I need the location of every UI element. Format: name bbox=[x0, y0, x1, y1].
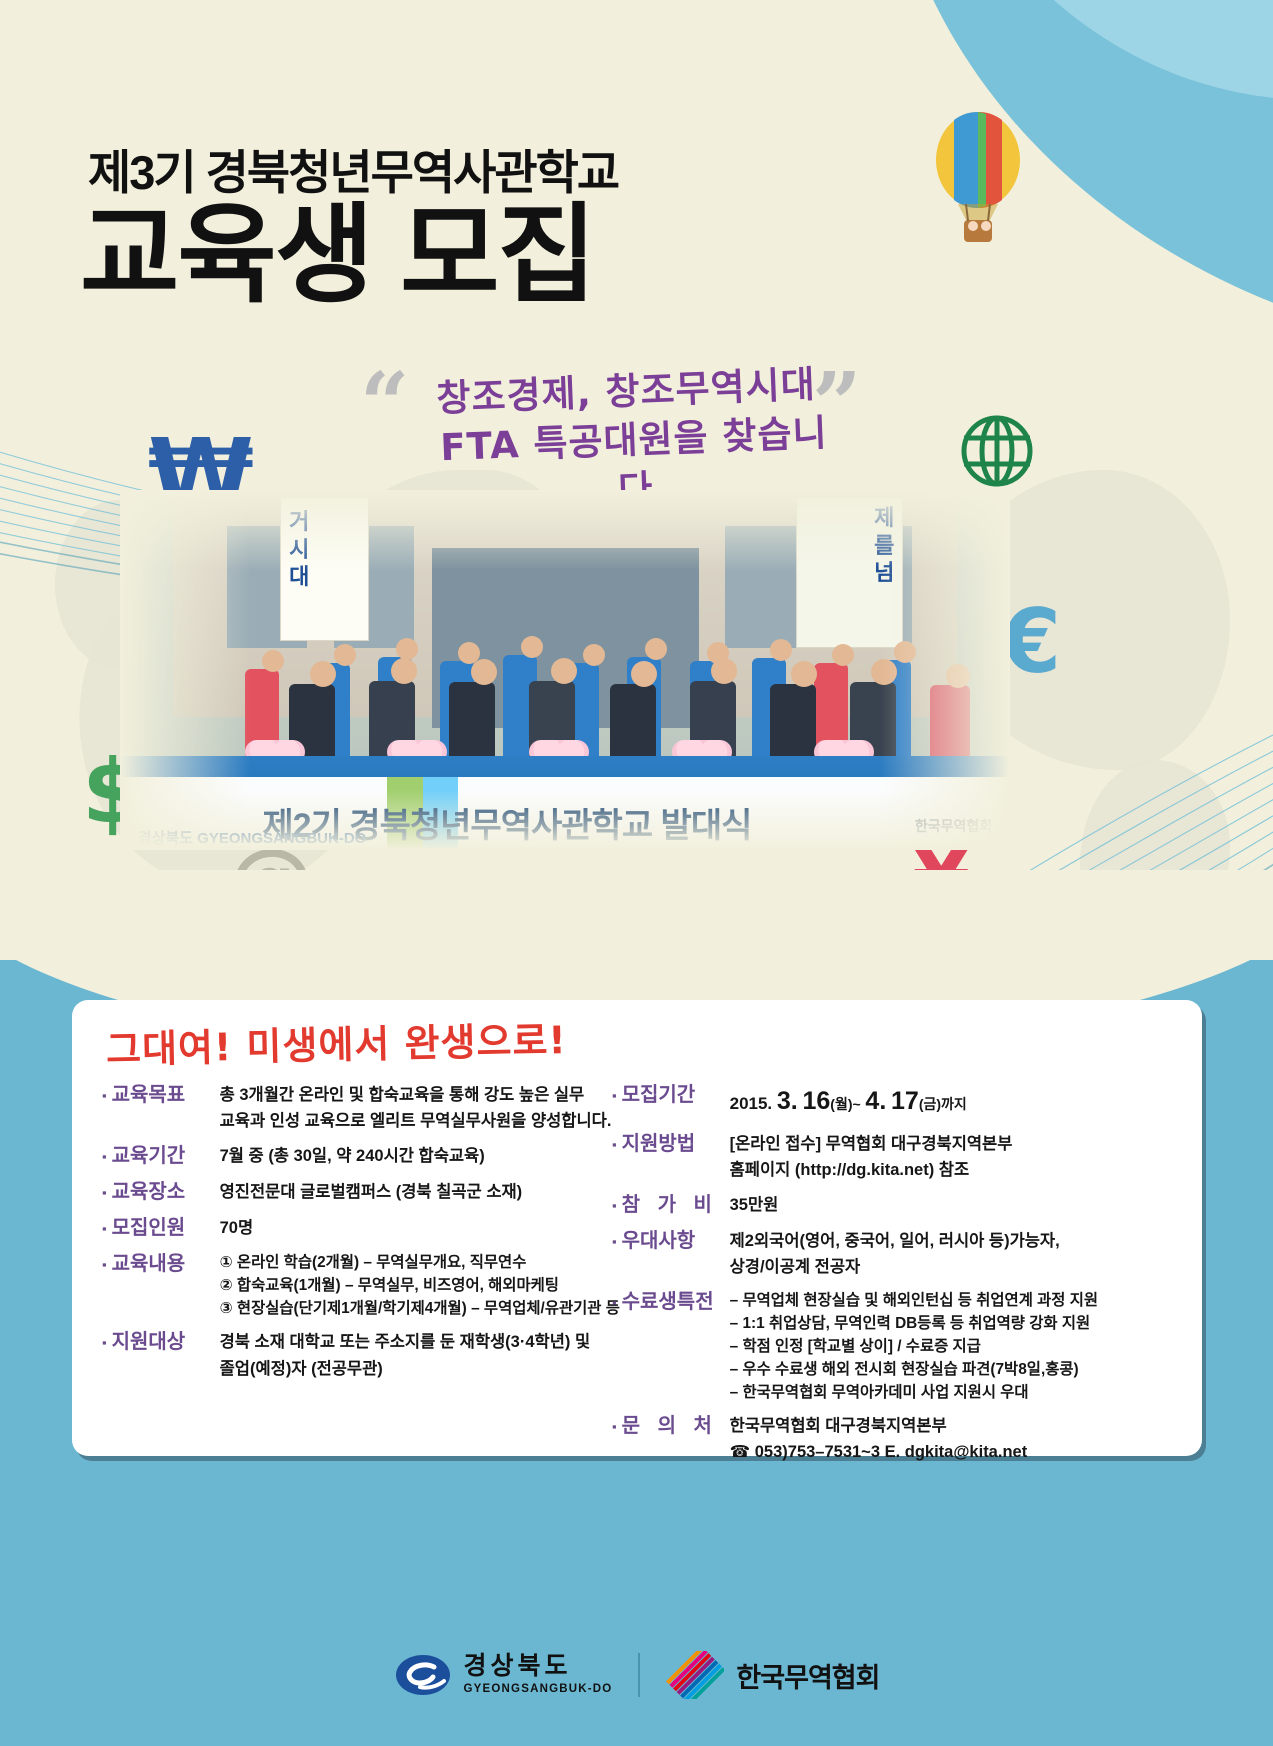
detail-label: 교육기간 bbox=[112, 1143, 220, 1170]
kita-logo: 한국무역협회 bbox=[666, 1651, 879, 1699]
detail-label: 교육장소 bbox=[112, 1179, 220, 1206]
kita-mark-icon bbox=[666, 1651, 724, 1699]
poster-root: 제3기 경북청년무역사관학교 교육생 모집 “ ” 창조경제, 창조무역시대 F… bbox=[0, 0, 1273, 1746]
date-weekday-start: (월)~ bbox=[830, 1096, 860, 1112]
detail-line: 70명 bbox=[220, 1215, 622, 1241]
gyeongsangbuk-do-logo: 경상북도 GYEONGSANGBUK-DO bbox=[394, 1653, 613, 1697]
date-month-end: 4. bbox=[865, 1087, 886, 1115]
bullet-icon: ▪ bbox=[612, 1291, 617, 1315]
detail-label: 지원대상 bbox=[112, 1329, 220, 1356]
bullet-icon: ▪ bbox=[612, 1230, 617, 1254]
bullet-icon: ▪ bbox=[102, 1331, 107, 1355]
detail-row-curriculum: ▪ 교육내용 ① 온라인 학습(2개월) – 무역실무개요, 직무연수 ② 합숙… bbox=[102, 1251, 622, 1320]
detail-value: ① 온라인 학습(2개월) – 무역실무개요, 직무연수 ② 합숙교육(1개월)… bbox=[220, 1251, 622, 1320]
detail-value: [온라인 접수] 무역협회 대구경북지역본부 홈페이지 (http://dg.k… bbox=[730, 1131, 1192, 1183]
contact-phone-email[interactable]: ☎ 053)753–7531~3 E. dgkita@kita.net bbox=[730, 1439, 1192, 1465]
detail-line: 제2외국어(영어, 중국어, 일어, 러시아 등)가능자, bbox=[730, 1228, 1192, 1254]
bullet-icon: ▪ bbox=[612, 1133, 617, 1157]
photo-crowd bbox=[120, 605, 1010, 756]
detail-row-quota: ▪ 모집인원 70명 bbox=[102, 1215, 622, 1242]
detail-value: 경북 소재 대학교 또는 주소지를 둔 재학생(3·4학년) 및 졸업(예정)자… bbox=[220, 1329, 622, 1381]
bullet-icon: ▪ bbox=[612, 1084, 617, 1108]
detail-line: 35만원 bbox=[730, 1192, 1192, 1218]
detail-row-preference: ▪ 우대사항 제2외국어(영어, 중국어, 일어, 러시아 등)가능자, 상경/… bbox=[612, 1228, 1192, 1280]
detail-label: 참 가 비 bbox=[622, 1192, 730, 1219]
detail-line: 졸업(예정)자 (전공무관) bbox=[220, 1356, 622, 1382]
detail-value: 영진전문대 글로벌캠퍼스 (경북 칠곡군 소재) bbox=[220, 1179, 622, 1205]
photo-kita-logo: 한국무역협회 bbox=[915, 816, 992, 836]
detail-row-venue: ▪ 교육장소 영진전문대 글로벌캠퍼스 (경북 칠곡군 소재) bbox=[102, 1179, 622, 1206]
detail-line: – 한국무역협회 무역아카데미 사업 지원시 우대 bbox=[730, 1381, 1192, 1404]
bullet-icon: ▪ bbox=[612, 1415, 617, 1439]
event-photo: 거시대 제를넘 bbox=[120, 490, 1010, 850]
detail-row-fee: ▪ 참 가 비 35만원 bbox=[612, 1192, 1192, 1219]
detail-line[interactable]: 홈페이지 (http://dg.kita.net) 참조 bbox=[730, 1157, 1192, 1183]
detail-value: 제2외국어(영어, 중국어, 일어, 러시아 등)가능자, 상경/이공계 전공자 bbox=[730, 1228, 1192, 1280]
footer-divider bbox=[638, 1653, 640, 1697]
photo-event-banner: 제2기 경북청년무역사관학교 발대식 경상북도 GYEONGSANGBUK-DO bbox=[120, 756, 1010, 850]
detail-label: 문 의 처 bbox=[622, 1413, 730, 1440]
detail-row-goal: ▪ 교육목표 총 3개월간 온라인 및 합숙교육을 통해 강도 높은 실무 교육… bbox=[102, 1082, 622, 1134]
detail-line: 경북 소재 대학교 또는 주소지를 둔 재학생(3·4학년) 및 bbox=[220, 1329, 622, 1355]
detail-value: 35만원 bbox=[730, 1192, 1192, 1218]
date-year: 2015. bbox=[730, 1094, 773, 1113]
hot-air-balloon-icon bbox=[918, 108, 1038, 258]
detail-line: 교육과 인성 교육으로 엘리트 무역실무사원을 양성합니다. bbox=[220, 1108, 622, 1134]
detail-line: – 학점 인정 [학교별 상이] / 수료증 지급 bbox=[730, 1335, 1192, 1358]
detail-label: 모집인원 bbox=[112, 1215, 220, 1242]
bullet-icon: ▪ bbox=[102, 1145, 107, 1169]
quote-open-icon: “ bbox=[360, 362, 409, 448]
detail-line: – 우수 수료생 해외 전시회 현장실습 파견(7박8일,홍콩) bbox=[730, 1358, 1192, 1381]
detail-line: ② 합숙교육(1개월) – 무역실무, 비즈영어, 해외마케팅 bbox=[220, 1274, 622, 1297]
detail-value: 70명 bbox=[220, 1215, 622, 1241]
detail-label: 교육내용 bbox=[112, 1251, 220, 1278]
bullet-icon: ▪ bbox=[102, 1181, 107, 1205]
gyeongsangbuk-do-korean-label: 경상북도 bbox=[464, 1654, 613, 1679]
date-day-start: 16 bbox=[802, 1087, 830, 1115]
poster-headline: 교육생 모집 bbox=[80, 198, 595, 311]
date-month-start: 3. bbox=[777, 1087, 798, 1115]
details-card: 그대여! 미생에서 완생으로! ▪ 교육목표 총 3개월간 온라인 및 합숙교육… bbox=[72, 1000, 1202, 1456]
detail-line: ③ 현장실습(단기제1개월/학기제4개월) – 무역업체/유관기관 등 bbox=[220, 1297, 622, 1320]
detail-line: 총 3개월간 온라인 및 합숙교육을 통해 강도 높은 실무 bbox=[220, 1082, 622, 1108]
detail-row-how-to-apply: ▪ 지원방법 [온라인 접수] 무역협회 대구경북지역본부 홈페이지 (http… bbox=[612, 1131, 1192, 1183]
detail-value: 총 3개월간 온라인 및 합숙교육을 통해 강도 높은 실무 교육과 인성 교육… bbox=[220, 1082, 622, 1134]
detail-line: ① 온라인 학습(2개월) – 무역실무개요, 직무연수 bbox=[220, 1251, 622, 1274]
detail-row-period: ▪ 교육기간 7월 중 (총 30일, 약 240시간 합숙교육) bbox=[102, 1143, 622, 1170]
detail-value: 한국무역협회 대구경북지역본부 ☎ 053)753–7531~3 E. dgki… bbox=[730, 1413, 1192, 1465]
detail-row-benefits: ▪ 수료생특전 – 무역업체 현장실습 및 해외인턴십 등 취업연계 과정 지원… bbox=[612, 1289, 1192, 1405]
detail-label: 지원방법 bbox=[622, 1131, 730, 1158]
bullet-icon: ▪ bbox=[102, 1084, 107, 1108]
gyeongsangbuk-do-english-label: GYEONGSANGBUK-DO bbox=[464, 1684, 613, 1696]
bullet-icon: ▪ bbox=[102, 1217, 107, 1241]
date-day-end: 17 bbox=[891, 1087, 919, 1115]
detail-label: 모집기간 bbox=[622, 1082, 730, 1109]
detail-line: 상경/이공계 전공자 bbox=[730, 1254, 1192, 1280]
detail-line: 영진전문대 글로벌캠퍼스 (경북 칠곡군 소재) bbox=[220, 1179, 622, 1205]
detail-row-application-period: ▪ 모집기간 2015. 3. 16(월)~ 4. 17(금)까지 bbox=[612, 1082, 1192, 1122]
gyeongsangbuk-do-mark-icon bbox=[394, 1653, 452, 1697]
detail-row-eligibility: ▪ 지원대상 경북 소재 대학교 또는 주소지를 둔 재학생(3·4학년) 및 … bbox=[102, 1329, 622, 1381]
poster-kicker: 제3기 경북청년무역사관학교 bbox=[88, 134, 618, 203]
detail-line: – 1:1 취업상담, 무역인력 DB등록 등 취업역량 강화 지원 bbox=[730, 1312, 1192, 1335]
detail-value: – 무역업체 현장실습 및 해외인턴십 등 취업연계 과정 지원 – 1:1 취… bbox=[730, 1289, 1192, 1405]
detail-line: 7월 중 (총 30일, 약 240시간 합숙교육) bbox=[220, 1143, 622, 1169]
card-title: 그대여! 미생에서 완생으로! bbox=[105, 1009, 567, 1074]
detail-line: – 무역업체 현장실습 및 해외인턴십 등 취업연계 과정 지원 bbox=[730, 1289, 1192, 1312]
detail-line: [온라인 접수] 무역협회 대구경북지역본부 bbox=[730, 1131, 1192, 1157]
date-weekday-end: (금)까지 bbox=[919, 1096, 967, 1112]
detail-label: 우대사항 bbox=[622, 1228, 730, 1255]
kita-korean-label: 한국무역협회 bbox=[736, 1656, 879, 1695]
detail-label: 수료생특전 bbox=[622, 1289, 730, 1316]
bullet-icon: ▪ bbox=[612, 1194, 617, 1218]
details-right-column: ▪ 모집기간 2015. 3. 16(월)~ 4. 17(금)까지 ▪ 지원방법… bbox=[612, 1082, 1192, 1474]
bullet-icon: ▪ bbox=[102, 1253, 107, 1277]
detail-value: 7월 중 (총 30일, 약 240시간 합숙교육) bbox=[220, 1143, 622, 1169]
details-left-column: ▪ 교육목표 총 3개월간 온라인 및 합숙교육을 통해 강도 높은 실무 교육… bbox=[102, 1082, 622, 1391]
detail-value: 2015. 3. 16(월)~ 4. 17(금)까지 bbox=[730, 1082, 1192, 1122]
globe-icon bbox=[958, 412, 1036, 490]
detail-label: 교육목표 bbox=[112, 1082, 220, 1109]
detail-row-contact: ▪ 문 의 처 한국무역협회 대구경북지역본부 ☎ 053)753–7531~3… bbox=[612, 1413, 1192, 1465]
detail-line: 한국무역협회 대구경북지역본부 bbox=[730, 1413, 1192, 1439]
photo-gyeongbuk-logo: 경상북도 GYEONGSANGBUK-DO bbox=[138, 827, 367, 848]
footer-logos: 경상북도 GYEONGSANGBUK-DO 한국무역협회 bbox=[0, 1630, 1273, 1720]
